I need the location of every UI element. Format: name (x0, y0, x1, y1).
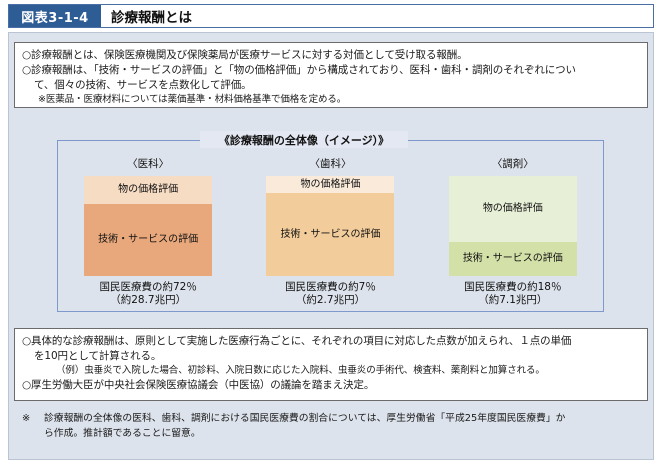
column-medical-head: 〈医科〉 (127, 156, 169, 171)
calculation-example: （例）虫垂炎で入院した場合、初診料、入院日数に応じた入院料、虫垂炎の手術代、検査… (22, 364, 639, 378)
column-dental-service-segment: 技術・サービスの評価 (266, 193, 394, 276)
column-medical-service-segment: 技術・サービスの評価 (84, 204, 212, 276)
definition-bullet-2-line-1: ○診療報酬は、「技術・サービスの評価」と「物の価格評価」から構成されており、医科… (22, 63, 639, 78)
column-dental-goods-segment: 物の価格評価 (266, 176, 394, 193)
column-pharmacy-caption: 国民医療費の約18％ （約7.1兆円） (464, 281, 561, 307)
column-medical-caption-line-2: （約28.7兆円） (99, 294, 196, 307)
definition-note: ※医薬品・医療材料については薬価基準・材料価格基準で価格を定める。 (22, 93, 639, 107)
source-footnote-text: 診療報酬の全体像の医科、歯科、調剤における国民医療費の割合については、厚生労働省… (44, 412, 640, 441)
calculation-panel: ○具体的な診療報酬は、原則として実施した医療行為ごとに、それぞれの項目に対応した… (14, 328, 648, 401)
overview-columns: 〈医科〉 物の価格評価 技術・サービスの評価 国民医療費の約72％ （約28.7… (57, 140, 604, 312)
figure-page: 図表3-1-4 診療報酬とは ○診療報酬とは、保険医療機関及び保険薬局が医療サー… (0, 0, 662, 464)
column-dental-stack: 物の価格評価 技術・サービスの評価 (266, 176, 394, 276)
column-pharmacy-caption-line-2: （約7.1兆円） (464, 294, 561, 307)
definition-bullet-1: ○診療報酬とは、保険医療機関及び保険薬局が医療サービスに対する対価として受け取る… (22, 48, 639, 63)
column-medical-goods-segment: 物の価格評価 (84, 176, 212, 204)
column-dental-caption-line-1: 国民医療費の約7％ (285, 281, 376, 294)
column-dental-caption-line-2: （約2.7兆円） (285, 294, 376, 307)
column-pharmacy-stack: 物の価格評価 技術・サービスの評価 (449, 176, 577, 276)
column-dental-caption: 国民医療費の約7％ （約2.7兆円） (285, 281, 376, 307)
column-medical: 〈医科〉 物の価格評価 技術・サービスの評価 国民医療費の約72％ （約28.7… (57, 140, 239, 312)
source-footnote-mark: ※ (22, 412, 44, 441)
column-pharmacy-caption-line-1: 国民医療費の約18％ (464, 281, 561, 294)
definition-panel: ○診療報酬とは、保険医療機関及び保険薬局が医療サービスに対する対価として受け取る… (14, 42, 648, 108)
column-medical-stack: 物の価格評価 技術・サービスの評価 (84, 176, 212, 276)
figure-header: 図表3-1-4 診療報酬とは (8, 4, 654, 28)
source-footnote-line-1: 診療報酬の全体像の医科、歯科、調剤における国民医療費の割合については、厚生労働省… (44, 412, 640, 427)
source-footnote-line-2: ら作成。推計額であることに留意。 (44, 427, 640, 442)
column-pharmacy-service-segment: 技術・サービスの評価 (449, 242, 577, 276)
definition-bullet-2-line-2: て、個々の技術、サービスを点数化して評価。 (22, 78, 639, 93)
calculation-bullet-1-line-2: を10円として計算される。 (22, 349, 639, 364)
column-medical-caption-line-1: 国民医療費の約72％ (99, 281, 196, 294)
calculation-bullet-2: ○厚生労働大臣が中央社会保険医療協議会（中医協）の議論を踏まえ決定。 (22, 378, 639, 393)
column-pharmacy-goods-segment: 物の価格評価 (449, 176, 577, 242)
page-title: 診療報酬とは (101, 5, 653, 27)
figure-number-badge: 図表3-1-4 (9, 5, 101, 27)
calculation-bullet-1-line-1: ○具体的な診療報酬は、原則として実施した医療行為ごとに、それぞれの項目に対応した… (22, 334, 639, 349)
column-dental: 〈歯科〉 物の価格評価 技術・サービスの評価 国民医療費の約7％ （約2.7兆円… (239, 140, 421, 312)
column-pharmacy-head: 〈調剤〉 (492, 156, 534, 171)
source-footnote: ※ 診療報酬の全体像の医科、歯科、調剤における国民医療費の割合については、厚生労… (14, 410, 648, 454)
column-medical-caption: 国民医療費の約72％ （約28.7兆円） (99, 281, 196, 307)
source-footnote-row: ※ 診療報酬の全体像の医科、歯科、調剤における国民医療費の割合については、厚生労… (22, 412, 640, 441)
column-dental-head: 〈歯科〉 (309, 156, 351, 171)
column-pharmacy: 〈調剤〉 物の価格評価 技術・サービスの評価 国民医療費の約18％ （約7.1兆… (422, 140, 604, 312)
